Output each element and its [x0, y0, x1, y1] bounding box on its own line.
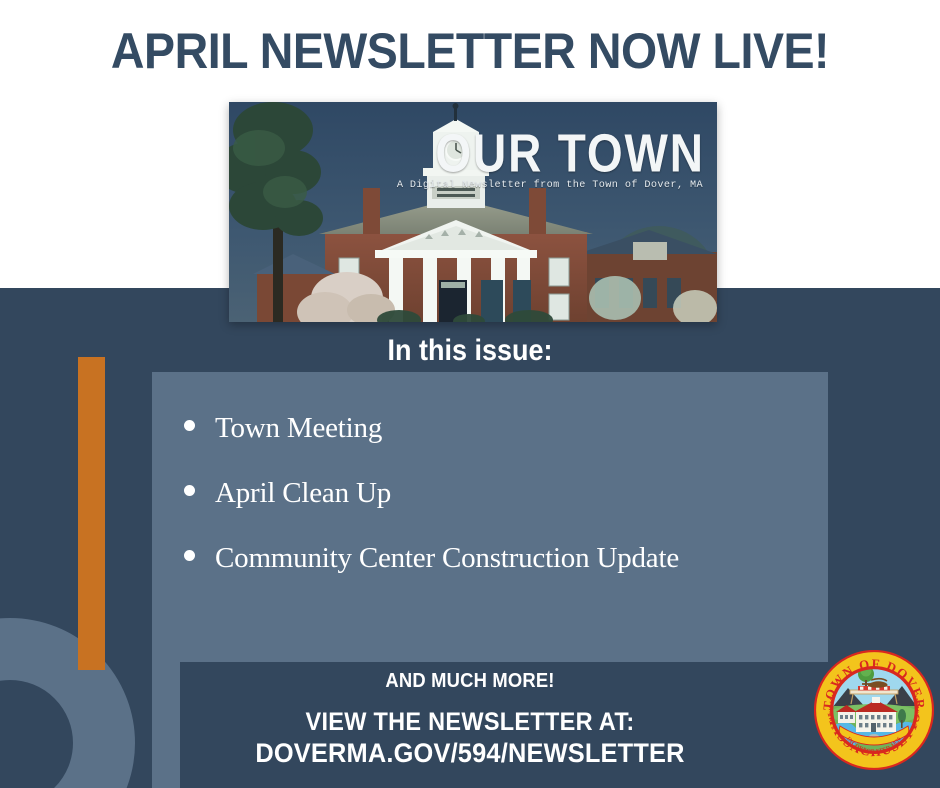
issue-contents-panel: Town Meeting April Clean Up Community Ce…: [152, 372, 828, 662]
town-seal-graphic: TOWN OF DOVER MASSACHUSETTS PARISH 1748 …: [814, 650, 934, 770]
list-item-label: April Clean Up: [215, 477, 391, 509]
cover-subtitle: A Digital Newsletter from the Town of Do…: [397, 180, 703, 191]
bullet-dot-icon: [184, 485, 195, 496]
bullet-dot-icon: [184, 420, 195, 431]
in-this-issue-heading: In this issue:: [47, 333, 893, 369]
cover-title: OUR TOWN: [436, 126, 705, 180]
list-item: Town Meeting: [152, 412, 828, 477]
view-newsletter-label: VIEW THE NEWSLETTER AT:: [28, 707, 912, 737]
list-item-label: Town Meeting: [215, 412, 382, 444]
list-item: Community Center Construction Update: [152, 542, 828, 607]
newsletter-cover-image: OUR TOWN A Digital Newsletter from the T…: [229, 102, 717, 322]
page-title: APRIL NEWSLETTER NOW LIVE!: [33, 22, 907, 80]
bullet-dot-icon: [184, 550, 195, 561]
list-item: April Clean Up: [152, 477, 828, 542]
newsletter-announcement-poster: APRIL NEWSLETTER NOW LIVE!: [0, 0, 940, 788]
list-item-label: Community Center Construction Update: [215, 542, 679, 574]
town-of-dover-seal: TOWN OF DOVER MASSACHUSETTS PARISH 1748 …: [814, 650, 934, 770]
accent-bar-orange: [78, 357, 105, 670]
footer-block: AND MUCH MORE! VIEW THE NEWSLETTER AT: D…: [0, 668, 940, 769]
newsletter-url[interactable]: DOVERMA.GOV/594/NEWSLETTER: [28, 737, 912, 769]
and-much-more-text: AND MUCH MORE!: [38, 668, 903, 694]
